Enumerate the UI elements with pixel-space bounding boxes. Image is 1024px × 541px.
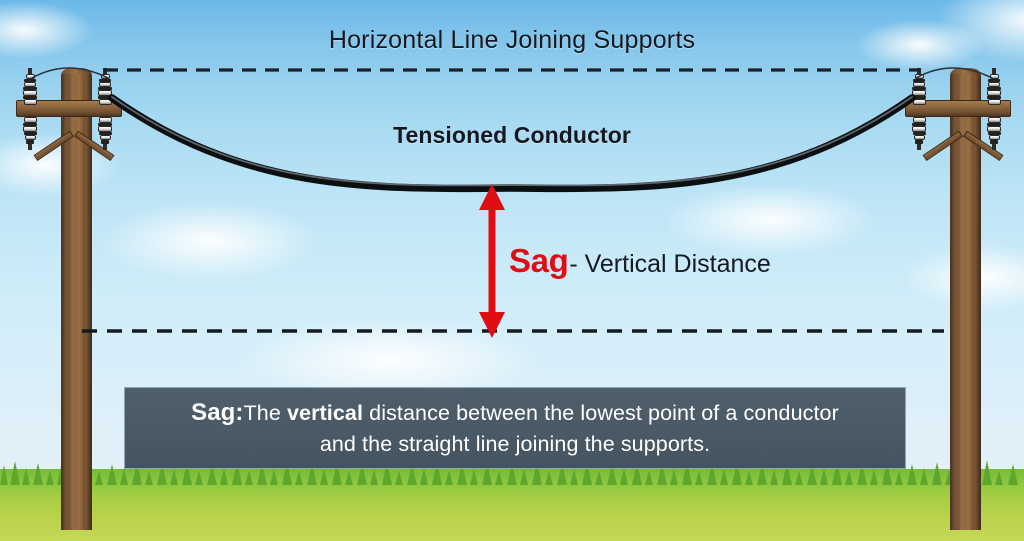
sag-diagram-canvas: Horizontal Line Joining Supports Tension…	[0, 0, 1024, 541]
tensioned-conductor-label: Tensioned Conductor	[0, 122, 1024, 149]
title-horizontal-line-label: Horizontal Line Joining Supports	[0, 26, 1024, 55]
insulator-left-outer-top	[23, 68, 37, 105]
definition-line-2: and the straight line joining the suppor…	[320, 429, 710, 460]
sag-term-red: Sag	[509, 242, 568, 280]
definition-text-a: The	[244, 401, 287, 425]
sag-vertical-distance-callout: Sag - Vertical Distance	[509, 242, 771, 280]
sag-callout-rest: - Vertical Distance	[569, 250, 770, 279]
definition-line-1: Sag:The vertical distance between the lo…	[191, 397, 839, 429]
definition-term: Sag:	[191, 399, 243, 426]
sag-definition-box: Sag:The vertical distance between the lo…	[124, 387, 906, 469]
insulator-left-inner-top	[98, 68, 112, 105]
grass-ground	[0, 469, 1024, 541]
insulator-right-outer-top	[987, 68, 1001, 105]
definition-text-c: distance between the lowest point of a c…	[363, 401, 839, 425]
insulator-right-inner-top	[912, 68, 926, 105]
definition-emphasis-vertical: vertical	[287, 401, 363, 425]
